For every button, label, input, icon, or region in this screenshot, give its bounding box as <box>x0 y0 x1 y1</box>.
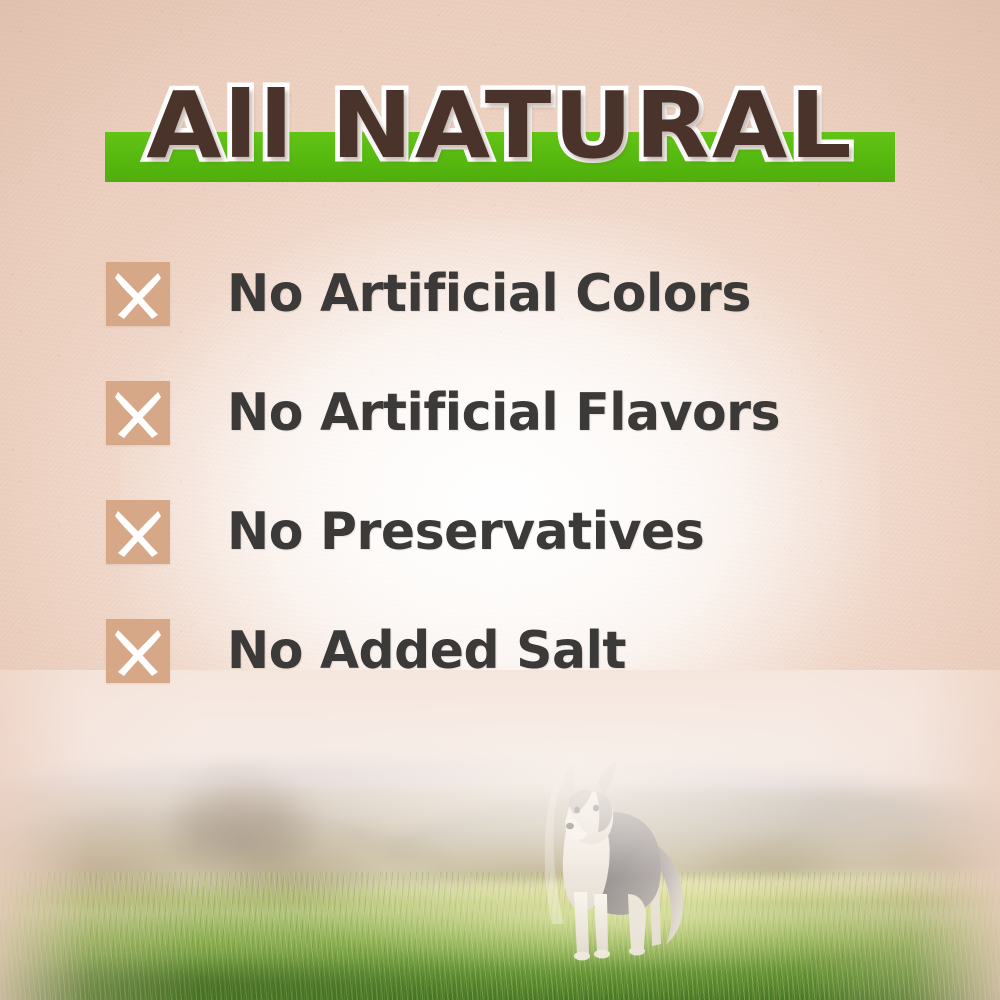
page-title: All NATURAL <box>0 76 1000 176</box>
list-item-label: No Artificial Flavors <box>227 385 780 441</box>
x-mark-icon <box>106 381 170 445</box>
lone-tree <box>135 742 350 892</box>
claims-list: No Artificial Colors No Artificial Flavo… <box>106 262 926 683</box>
list-item-label: No Preservatives <box>227 504 704 560</box>
title-block: All NATURAL <box>0 76 1000 188</box>
x-mark-icon <box>106 262 170 326</box>
x-mark-icon <box>106 619 170 683</box>
list-item: No Artificial Colors <box>106 262 926 326</box>
list-item: No Preservatives <box>106 500 926 564</box>
list-item: No Added Salt <box>106 619 926 683</box>
list-item-label: No Added Salt <box>227 623 626 679</box>
all-natural-poster: All NATURAL No Artificial Colors No Arti… <box>0 0 1000 1000</box>
list-item: No Artificial Flavors <box>106 381 926 445</box>
list-item-label: No Artificial Colors <box>227 266 751 322</box>
landscape-photo <box>0 670 1000 1000</box>
dog <box>530 748 710 978</box>
x-mark-icon <box>106 500 170 564</box>
